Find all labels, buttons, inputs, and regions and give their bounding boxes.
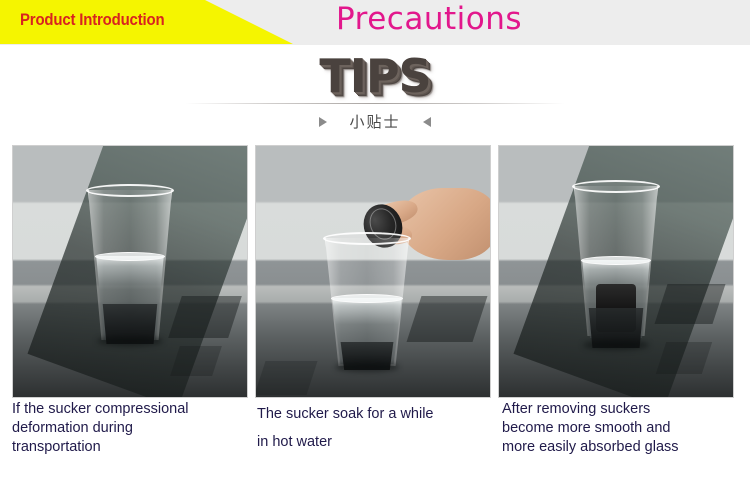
water-cup-1 (80, 184, 180, 384)
tips-heading-block: TIPS 小贴士 (0, 45, 750, 143)
triangle-left-icon (423, 117, 431, 127)
cup-shadow-2 (335, 362, 399, 372)
tips-subtitle-row: 小贴士 (0, 111, 750, 132)
instruction-image-row (12, 145, 734, 398)
step-image-2 (255, 145, 491, 398)
step-image-3 (498, 145, 734, 398)
precautions-page: Product Introduction Precautions TIPS 小贴… (0, 0, 750, 486)
tips-subtitle-chinese: 小贴士 (349, 111, 400, 132)
tips-wordmark: TIPS (0, 49, 750, 103)
caption-3-line-3: more easily absorbed glass (502, 438, 740, 457)
triangle-right-icon (319, 117, 327, 127)
water-cup-2 (317, 232, 417, 392)
cup-shadow-1 (97, 336, 163, 346)
step-image-1 (12, 145, 248, 398)
caption-2: The sucker soak for a while in hot water (257, 400, 495, 457)
water-surface-2 (331, 294, 403, 303)
caption-1-line-2: deformation during (12, 419, 250, 438)
caption-1-line-3: transportation (12, 438, 250, 457)
product-introduction-label: Product Introduction (20, 10, 164, 30)
caption-row: If the sucker compressional deformation … (12, 400, 740, 457)
page-title: Precautions (336, 1, 522, 37)
caption-3-line-1: After removing suckers (502, 400, 740, 419)
caption-2-line-1: The sucker soak for a while (257, 400, 495, 428)
water-cup-3 (566, 180, 666, 390)
water-surface-3 (581, 256, 651, 265)
cup-shadow-3 (583, 340, 649, 350)
caption-2-line-2: in hot water (257, 428, 495, 456)
caption-1-line-1: If the sucker compressional (12, 400, 250, 419)
caption-3: After removing suckers become more smoot… (502, 400, 740, 457)
caption-1: If the sucker compressional deformation … (12, 400, 250, 457)
caption-3-line-2: become more smooth and (502, 419, 740, 438)
water-surface-1 (95, 252, 165, 261)
page-header: Product Introduction Precautions (0, 0, 750, 45)
tips-divider (185, 103, 565, 104)
